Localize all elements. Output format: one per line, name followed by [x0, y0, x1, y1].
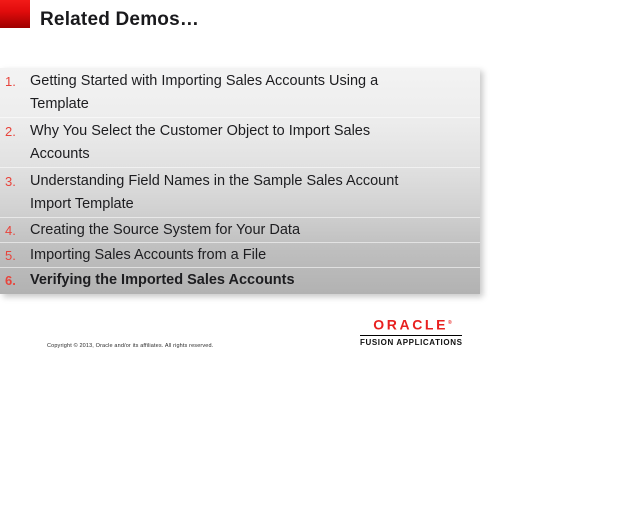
list-item-number: 6. — [5, 274, 30, 287]
list-item-label: Understanding Field Names in the Sample … — [30, 170, 430, 216]
slide-canvas: Related Demos… 1. Getting Started with I… — [0, 0, 640, 512]
list-item[interactable]: 2. Why You Select the Customer Object to… — [0, 118, 480, 168]
oracle-fusion-applications-logo: ORACLE® FUSION APPLICATIONS — [360, 316, 462, 347]
red-accent-block-icon — [0, 0, 30, 28]
list-item-number: 3. — [5, 168, 30, 188]
oracle-wordmark-text: ORACLE — [373, 317, 448, 333]
list-item-number: 1. — [5, 68, 30, 88]
list-item-label: Verifying the Imported Sales Accounts — [30, 269, 295, 292]
list-item[interactable]: 1. Getting Started with Importing Sales … — [0, 68, 480, 118]
list-item-current[interactable]: 6. Verifying the Imported Sales Accounts — [0, 268, 480, 293]
list-item-label: Getting Started with Importing Sales Acc… — [30, 70, 430, 116]
list-item[interactable]: 4. Creating the Source System for Your D… — [0, 218, 480, 243]
list-item-label: Creating the Source System for Your Data — [30, 219, 300, 242]
list-item[interactable]: 5. Importing Sales Accounts from a File — [0, 243, 480, 268]
list-item-number: 2. — [5, 118, 30, 138]
oracle-wordmark: ORACLE® — [360, 316, 462, 333]
copyright-notice: Copyright © 2013, Oracle and/or its affi… — [47, 343, 213, 349]
list-item[interactable]: 3. Understanding Field Names in the Samp… — [0, 168, 480, 218]
logo-divider — [360, 335, 462, 336]
list-item-number: 4. — [5, 224, 30, 237]
page-title: Related Demos… — [40, 9, 199, 31]
slide-title-bar: Related Demos… — [0, 0, 640, 40]
list-item-label: Importing Sales Accounts from a File — [30, 244, 266, 267]
list-item-label: Why You Select the Customer Object to Im… — [30, 120, 430, 166]
oracle-tagline: FUSION APPLICATIONS — [360, 338, 462, 347]
registered-trademark-icon: ® — [448, 320, 452, 326]
list-item-number: 5. — [5, 249, 30, 262]
related-demos-list: 1. Getting Started with Importing Sales … — [0, 68, 480, 294]
